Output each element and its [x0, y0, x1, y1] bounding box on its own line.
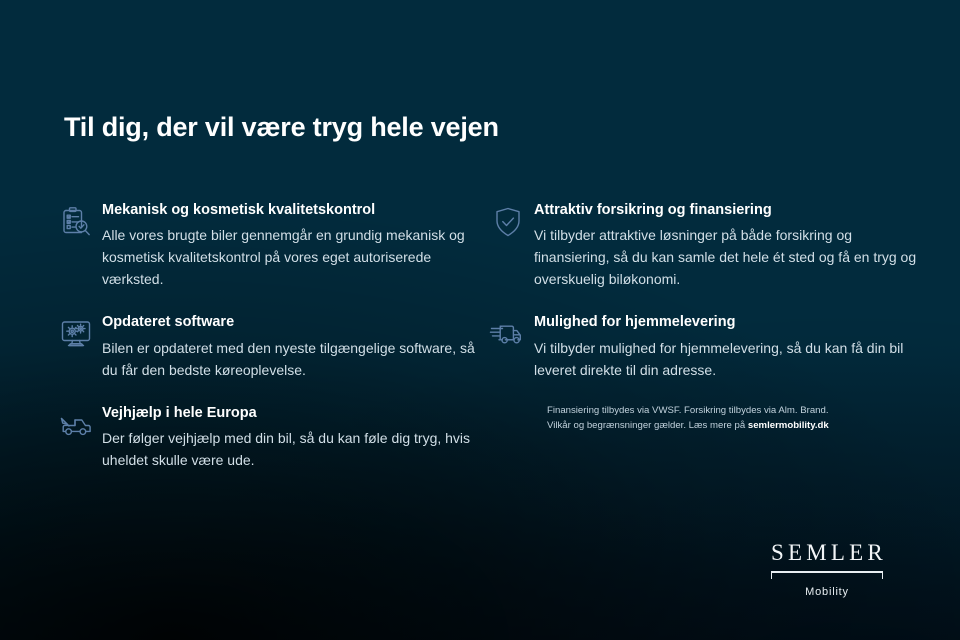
page-title: Til dig, der vil være tryg hele vejen: [64, 112, 499, 143]
feature-title: Opdateret software: [102, 313, 476, 331]
feature-text: Opdateret software Bilen er opdateret me…: [102, 312, 476, 380]
feature-description: Alle vores brugte biler gennemgår en gru…: [102, 224, 476, 290]
semler-mobility-logo: SEMLER Mobility: [752, 541, 902, 598]
feature-description: Der følger vejhjælp med din bil, så du k…: [102, 427, 476, 471]
legal-disclaimer: Finansiering tilbydes via VWSF. Forsikri…: [488, 403, 920, 434]
logo-subtitle: Mobility: [752, 586, 902, 598]
feature-text: Mulighed for hjemmelevering Vi tilbyder …: [534, 312, 920, 380]
tow-truck-icon: [56, 405, 102, 447]
logo-wordmark: SEMLER: [752, 541, 902, 564]
feature-text: Vejhjælp i hele Europa Der følger vejhjæ…: [102, 403, 476, 471]
feature-title: Attraktiv forsikring og finansiering: [534, 201, 920, 219]
feature-insurance-financing: Attraktiv forsikring og finansiering Vi …: [488, 200, 920, 290]
legal-website-link[interactable]: semlermobility.dk: [748, 420, 829, 431]
feature-text: Mekanisk og kosmetisk kvalitetskontrol A…: [102, 200, 476, 290]
feature-quality-control: Mekanisk og kosmetisk kvalitetskontrol A…: [56, 200, 476, 290]
feature-text: Attraktiv forsikring og finansiering Vi …: [534, 200, 920, 290]
legal-line-1: Finansiering tilbydes via VWSF. Forsikri…: [547, 403, 920, 419]
shield-check-icon: [488, 202, 534, 244]
page-content: Til dig, der vil være tryg hele vejen: [0, 0, 960, 640]
delivery-truck-icon: [488, 314, 534, 356]
feature-description: Vi tilbyder mulighed for hjemmelevering,…: [534, 337, 920, 381]
feature-title: Mulighed for hjemmelevering: [534, 313, 920, 331]
legal-line-2: Vilkår og begrænsninger gælder. Læs mere…: [547, 418, 920, 434]
feature-title: Mekanisk og kosmetisk kvalitetskontrol: [102, 201, 476, 219]
feature-column-left: Mekanisk og kosmetisk kvalitetskontrol A…: [56, 200, 476, 493]
feature-description: Vi tilbyder attraktive løsninger på både…: [534, 224, 920, 290]
feature-home-delivery: Mulighed for hjemmelevering Vi tilbyder …: [488, 312, 920, 380]
legal-line-2-text: Vilkår og begrænsninger gælder. Læs mere…: [547, 420, 748, 431]
monitor-gears-icon: [56, 314, 102, 356]
feature-title: Vejhjælp i hele Europa: [102, 404, 476, 422]
logo-rule: [771, 571, 883, 580]
feature-roadside-assistance: Vejhjælp i hele Europa Der følger vejhjæ…: [56, 403, 476, 471]
feature-description: Bilen er opdateret med den nyeste tilgæn…: [102, 337, 476, 381]
clipboard-magnifier-icon: [56, 202, 102, 244]
feature-updated-software: Opdateret software Bilen er opdateret me…: [56, 312, 476, 380]
feature-column-right: Attraktiv forsikring og finansiering Vi …: [488, 200, 920, 434]
